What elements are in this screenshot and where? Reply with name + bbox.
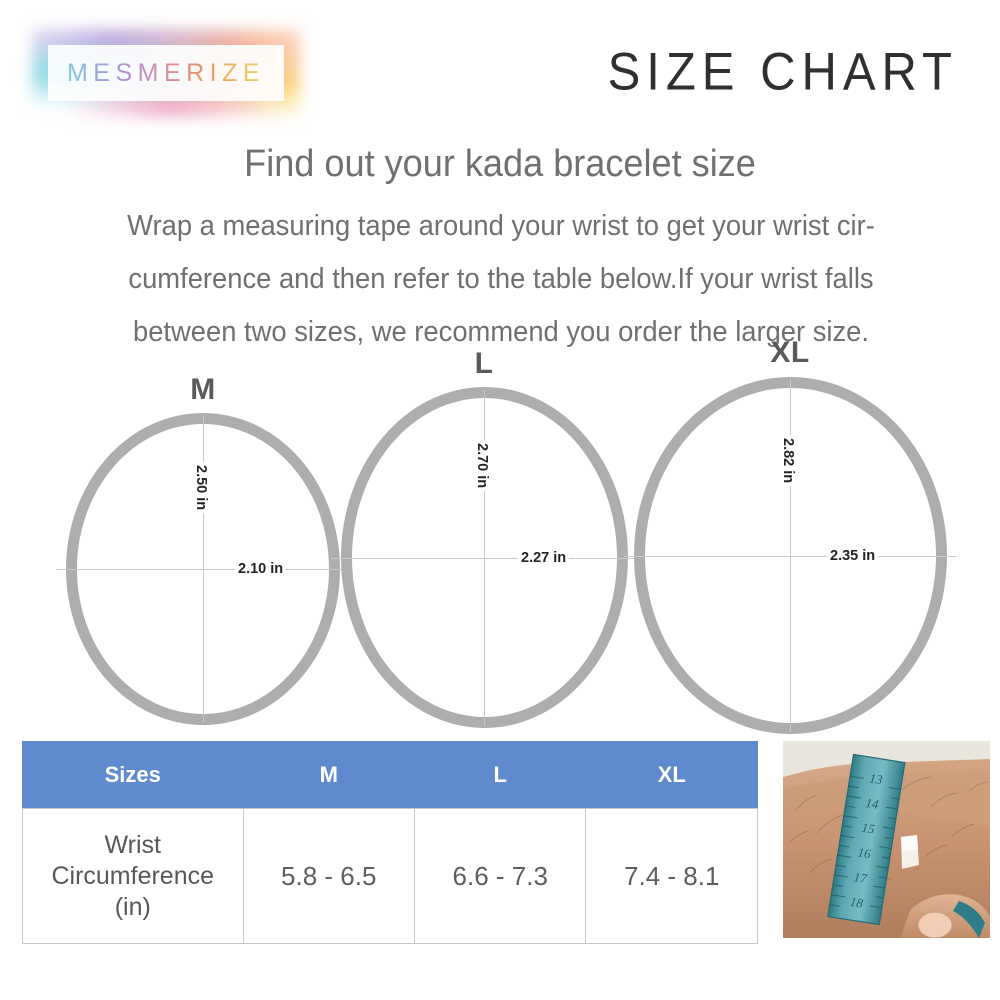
oval-axis-horizontal-m — [56, 569, 350, 570]
oval-height-label-l: 2.70 in — [473, 440, 491, 491]
oval-diagram-xl: XL 2.82 in 2.35 in — [634, 377, 947, 734]
table-header-sizes: Sizes — [23, 742, 244, 809]
intro-line-1: Wrap a measuring tape around your wrist … — [64, 200, 938, 253]
table-header-m: M — [243, 742, 414, 809]
headline: Find out your kada bracelet size — [25, 143, 975, 186]
page-title: SIZE CHART — [608, 42, 958, 102]
oval-diagram-l: L 2.70 in 2.27 in — [341, 387, 628, 728]
wrist-measuring-photo: 13 14 15 16 17 18 — [783, 741, 990, 938]
cell-wrist-circumference-m: 5.8 - 6.5 — [243, 809, 414, 944]
cell-wrist-circumference-l: 6.6 - 7.3 — [414, 809, 585, 944]
row-label-line-2: Circumference — [24, 861, 242, 892]
intro-line-2: cumference and then refer to the table b… — [64, 253, 938, 306]
oval-diagram-group: M 2.50 in 2.10 in L 2.70 in 2.27 in XL 2… — [0, 355, 1000, 745]
oval-height-label-m: 2.50 in — [192, 462, 210, 513]
table-row: Wrist Circumference (in) 5.8 - 6.5 6.6 -… — [23, 809, 758, 944]
brand-wordmark: MESMERIZE — [67, 59, 265, 88]
table-header-l: L — [414, 742, 585, 809]
oval-width-label-xl: 2.35 in — [827, 547, 878, 565]
oval-diagram-m: M 2.50 in 2.10 in — [66, 413, 340, 725]
oval-size-label-xl: XL — [770, 336, 809, 370]
row-label-line-3: (in) — [24, 892, 242, 923]
size-table: Sizes M L XL Wrist Circumference (in) 5.… — [22, 741, 758, 944]
oval-width-label-m: 2.10 in — [235, 560, 286, 578]
oval-axis-horizontal-xl — [624, 556, 956, 557]
oval-width-label-l: 2.27 in — [518, 549, 569, 567]
oval-axis-horizontal-l — [331, 558, 639, 559]
oval-size-label-l: L — [475, 347, 494, 381]
logo-plate: MESMERIZE — [48, 45, 284, 101]
cell-wrist-circumference-xl: 7.4 - 8.1 — [586, 809, 758, 944]
brand-logo: MESMERIZE — [48, 45, 284, 101]
table-header-xl: XL — [586, 742, 758, 809]
row-label-line-1: Wrist — [24, 830, 242, 861]
row-label-wrist-circumference: Wrist Circumference (in) — [23, 809, 244, 944]
wrist-photo-illustration: 13 14 15 16 17 18 — [783, 741, 990, 938]
oval-height-label-xl: 2.82 in — [779, 435, 797, 486]
table-header-row: Sizes M L XL — [23, 742, 758, 809]
oval-size-label-m: M — [190, 373, 216, 407]
